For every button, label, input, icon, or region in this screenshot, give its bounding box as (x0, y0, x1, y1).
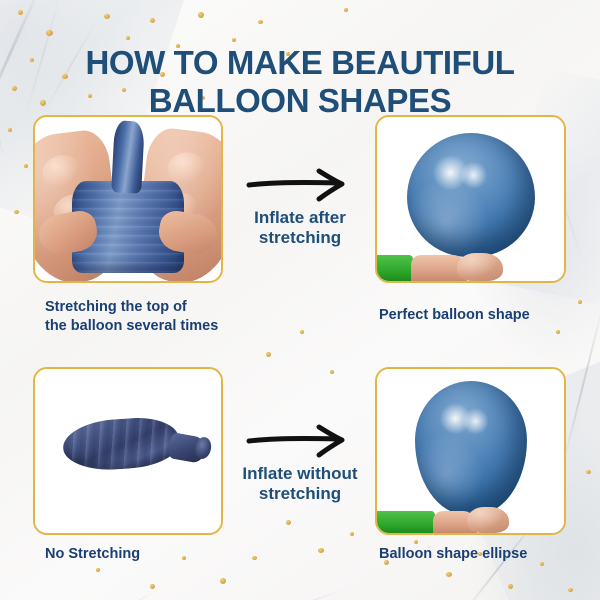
caption-perfect-balloon-shape: Perfect balloon shape (379, 306, 579, 325)
round-blue-balloon-held-by-hand-photo (377, 117, 564, 281)
round-blue-balloon (407, 133, 535, 257)
page-title-line-2: BALLOON SHAPES (0, 82, 600, 120)
balloon-neck-pinched (111, 120, 145, 193)
page-title-line-1: HOW TO MAKE BEAUTIFUL (0, 44, 600, 82)
marble-vein (85, 590, 157, 600)
arrow-right-icon (245, 424, 355, 458)
deflated-blue-balloon-photo (35, 369, 221, 533)
photo-panel-stretching-balloon[interactable] (33, 115, 223, 283)
arrow-label-inflate-after-stretching: Inflate after stretching (235, 208, 365, 248)
step-arrow-block-inflate-after-stretching: Inflate after stretching (235, 168, 365, 248)
caption-balloon-shape-ellipse: Balloon shape ellipse (379, 545, 589, 564)
fist-holding-balloon (457, 253, 503, 281)
step-arrow-block-inflate-without-stretching: Inflate without stretching (225, 424, 375, 504)
arrow-label-line-2: stretching (235, 228, 365, 248)
arrow-label-line-1: Inflate without (225, 464, 375, 484)
page-title: HOW TO MAKE BEAUTIFUL BALLOON SHAPES (0, 44, 600, 121)
green-sleeve (377, 511, 435, 533)
arrow-label-inflate-without-stretching: Inflate without stretching (225, 464, 375, 504)
marble-vein (258, 589, 343, 600)
caption-line-2: the balloon several times (45, 317, 255, 336)
infographic-canvas: HOW TO MAKE BEAUTIFUL BALLOON SHAPES Str… (0, 0, 600, 600)
ellipse-blue-balloon-held-by-hand-photo (377, 369, 564, 533)
hands-stretching-balloon-neck-photo (35, 117, 221, 281)
caption-line-1: Stretching the top of (45, 298, 255, 317)
photo-panel-balloon-ellipse[interactable] (375, 367, 566, 535)
photo-panel-no-stretching[interactable] (33, 367, 223, 535)
arrow-label-line-1: Inflate after (235, 208, 365, 228)
arrow-label-line-2: stretching (225, 484, 375, 504)
caption-stretching-balloon: Stretching the top of the balloon severa… (45, 298, 255, 336)
arrow-right-icon (245, 168, 355, 202)
green-sleeve (377, 255, 413, 281)
photo-panel-perfect-balloon[interactable] (375, 115, 566, 283)
marble-vein (561, 302, 600, 467)
deflated-balloon-body (61, 415, 180, 473)
caption-no-stretching: No Stretching (45, 545, 245, 564)
ellipse-blue-balloon (415, 381, 527, 515)
fist-holding-balloon (467, 507, 509, 533)
